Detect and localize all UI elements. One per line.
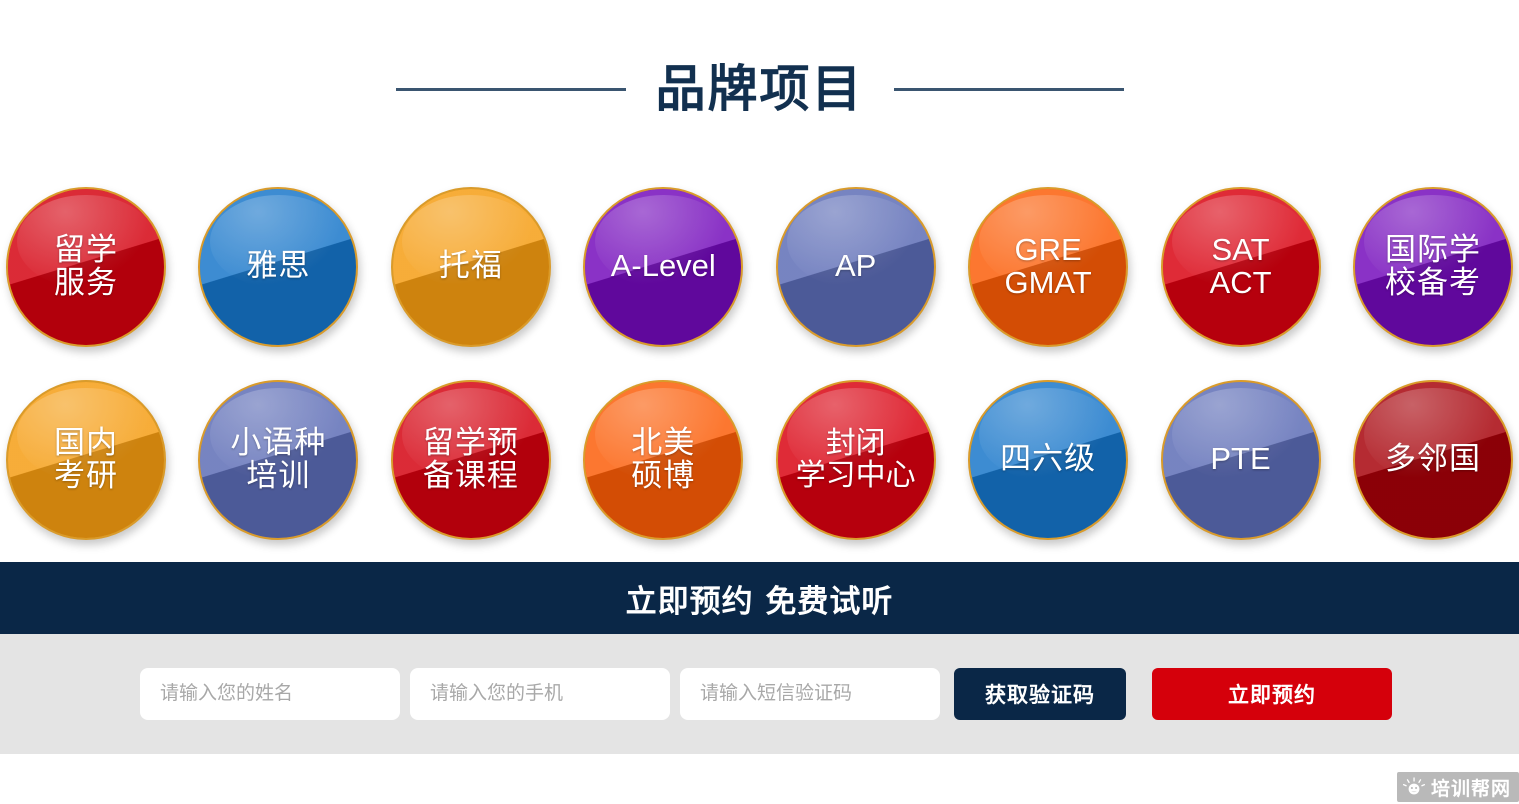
program-gre-gmat[interactable]: GRE GMAT <box>968 187 1128 347</box>
program-label: SAT ACT <box>1208 234 1274 298</box>
reservation-form: 获取验证码 立即预约 <box>0 634 1519 754</box>
program-duolingo[interactable]: 多邻国 <box>1353 380 1513 540</box>
site-watermark: 培训帮网 <box>1397 772 1519 802</box>
program-label: GRE GMAT <box>1002 234 1093 298</box>
program-label: 封闭 学习中心 <box>778 428 934 490</box>
program-ap[interactable]: AP <box>776 187 936 347</box>
cta-banner-text: 立即预约 免费试听 <box>626 576 894 621</box>
watermark-text: 培训帮网 <box>1431 774 1511 801</box>
title-rule-right <box>894 88 1124 91</box>
program-row-1: 留学 服务雅思托福A-LevelAPGRE GMATSAT ACT国际学 校备考 <box>6 170 1513 363</box>
program-toefl[interactable]: 托福 <box>391 187 551 347</box>
program-label: A-Level <box>609 250 718 282</box>
program-label: AP <box>833 250 878 282</box>
program-north-america-masters-phd[interactable]: 北美 硕博 <box>583 380 743 540</box>
page-title: 品牌项目 <box>656 64 864 114</box>
program-minor-languages[interactable]: 小语种 培训 <box>198 380 358 540</box>
program-international-school-prep[interactable]: 国际学 校备考 <box>1353 187 1513 347</box>
program-label: 小语种 培训 <box>228 427 328 491</box>
program-label: 留学预 备课程 <box>421 427 521 491</box>
cta-banner: 立即预约 免费试听 <box>0 562 1519 634</box>
program-label: 留学 服务 <box>52 234 120 298</box>
page-header: 品牌项目 <box>0 0 1519 170</box>
program-a-level[interactable]: A-Level <box>583 187 743 347</box>
program-study-abroad-prep[interactable]: 留学预 备课程 <box>391 380 551 540</box>
program-label: 多邻国 <box>1383 443 1483 475</box>
program-label: 雅思 <box>244 250 312 282</box>
program-liuxue-fuwu[interactable]: 留学 服务 <box>6 187 166 347</box>
program-pte[interactable]: PTE <box>1161 380 1321 540</box>
program-label: 四六级 <box>998 443 1098 475</box>
title-rule-left <box>396 88 626 91</box>
get-sms-code-button[interactable]: 获取验证码 <box>954 668 1126 720</box>
program-label: 北美 硕博 <box>629 427 697 491</box>
name-input[interactable] <box>140 668 400 720</box>
program-label: 国内 考研 <box>52 427 120 491</box>
program-label: 国际学 校备考 <box>1383 234 1483 298</box>
sun-face-icon <box>1403 776 1425 798</box>
sms-code-input[interactable] <box>680 668 940 720</box>
program-grid: 留学 服务雅思托福A-LevelAPGRE GMATSAT ACT国际学 校备考… <box>0 170 1519 556</box>
program-ielts[interactable]: 雅思 <box>198 187 358 347</box>
program-closed-study-center[interactable]: 封闭 学习中心 <box>776 380 936 540</box>
program-label: PTE <box>1208 443 1272 475</box>
program-label: 托福 <box>437 250 505 282</box>
program-cet4-cet6[interactable]: 四六级 <box>968 380 1128 540</box>
program-sat-act[interactable]: SAT ACT <box>1161 187 1321 347</box>
program-row-2: 国内 考研小语种 培训留学预 备课程北美 硕博封闭 学习中心四六级PTE多邻国 <box>6 363 1513 556</box>
phone-input[interactable] <box>410 668 670 720</box>
program-guonei-kaoyan[interactable]: 国内 考研 <box>6 380 166 540</box>
submit-reservation-button[interactable]: 立即预约 <box>1152 668 1392 720</box>
